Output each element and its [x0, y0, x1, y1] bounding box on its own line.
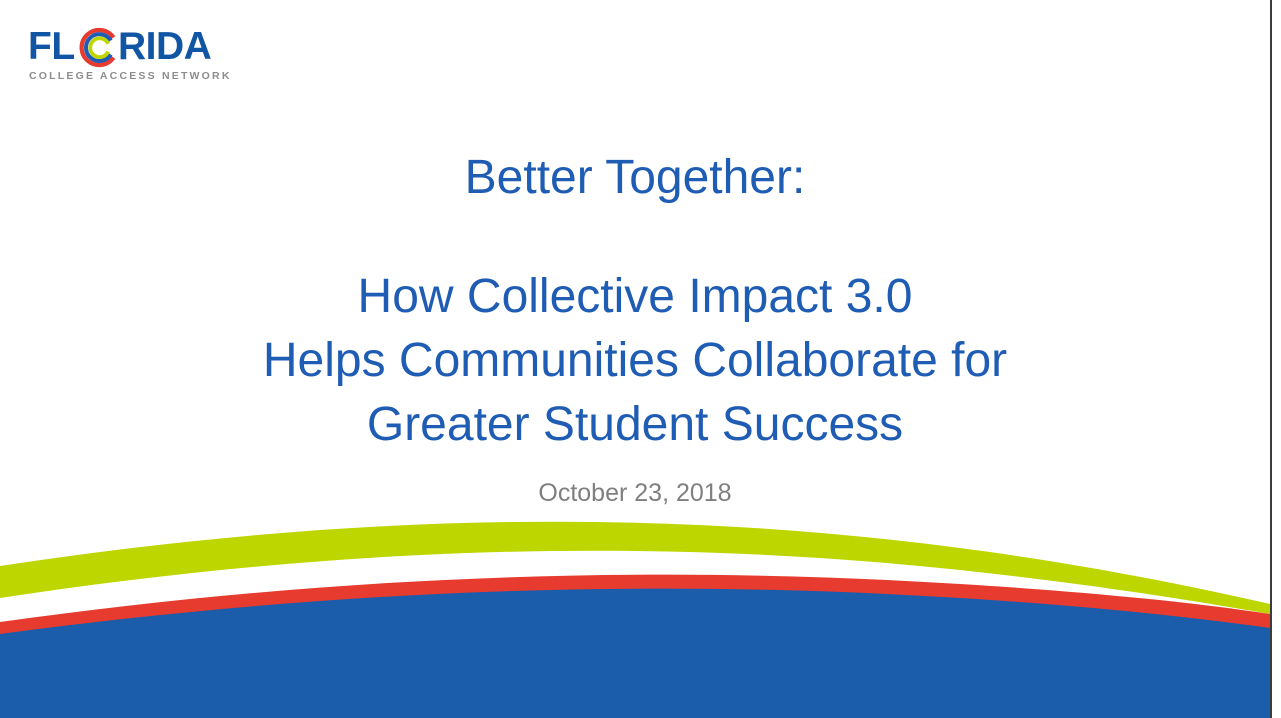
subtitle-line-3: Greater Student Success — [0, 393, 1270, 457]
slide-main-title: Better Together: — [0, 149, 1270, 207]
logo-text-fl: FL — [28, 26, 75, 68]
logo-tagline: COLLEGE ACCESS NETWORK — [29, 70, 232, 82]
subtitle-line-1: How Collective Impact 3.0 — [0, 265, 1270, 329]
decorative-wave-graphic — [0, 518, 1270, 718]
presentation-slide: FL RIDA COLLEGE ACCESS NETWORK Better To… — [0, 0, 1270, 718]
slide-subtitle: How Collective Impact 3.0 Helps Communit… — [0, 265, 1270, 457]
subtitle-line-2: Helps Communities Collaborate for — [0, 329, 1270, 393]
logo-ring-icon — [75, 27, 119, 68]
logo-wordmark: FL RIDA — [28, 26, 238, 68]
logo-text-rida: RIDA — [118, 26, 211, 68]
florida-can-logo: FL RIDA COLLEGE ACCESS NETWORK — [28, 26, 238, 88]
slide-right-gutter — [1272, 0, 1281, 718]
slide-date: October 23, 2018 — [0, 479, 1270, 508]
